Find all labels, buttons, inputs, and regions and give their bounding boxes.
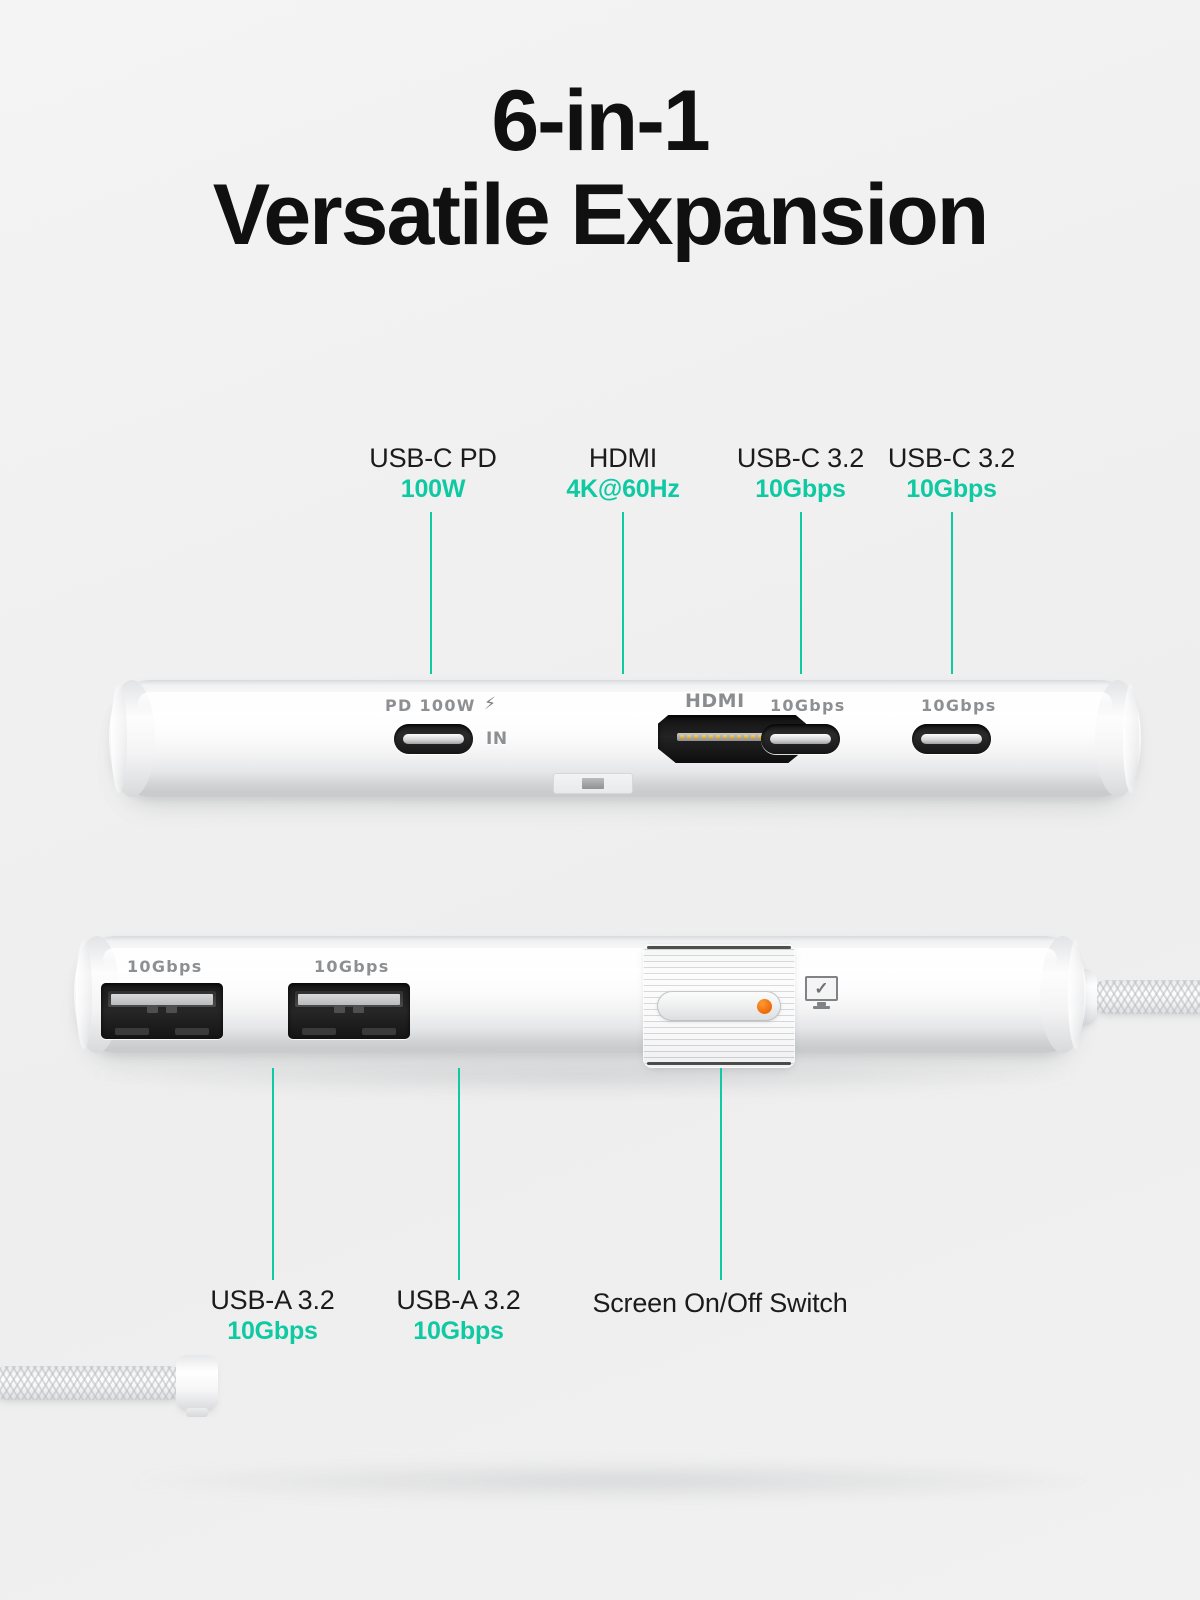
callout-label-spec: 10Gbps [165,1317,380,1346]
leader-line-usb-c-b [951,512,953,674]
usb-a-port-b[interactable] [288,983,410,1039]
usb-a-port-a[interactable] [101,983,223,1039]
engraving-10gbps: 10Gbps [314,957,390,976]
bolt-icon: ⚡ [484,694,497,714]
engraving-10gbps: 10Gbps [127,957,203,976]
usb-a-notch [353,1005,364,1013]
cable-braid [0,1366,186,1400]
leader-line-usb-a-b [458,1068,460,1280]
usb-c-port-b[interactable] [912,724,991,754]
device-shadow [130,1461,1120,1501]
device-end-cap-right [1095,680,1141,797]
usb-a-pad [115,1028,149,1035]
screen-on-off-switch[interactable] [643,943,795,1068]
cable-collar [176,1355,218,1411]
usb-a-tongue [111,994,213,1005]
hdmi-logo-icon: HDMI [685,690,745,712]
callout-usb-c-3-2-b: USB-C 3.2 10Gbps [844,443,1059,504]
leader-line-hdmi [622,512,624,674]
switch-rail-bottom [647,1062,791,1065]
leader-line-usb-a-a [272,1068,274,1280]
engraving-10gbps: 10Gbps [770,696,846,715]
device-body: 10Gbps 10Gbps [75,936,1085,1053]
switch-rail-top [647,946,791,949]
device-end-cap-right [1040,936,1086,1053]
device-end-cap-left [109,680,155,797]
device-shadow [90,1056,1080,1096]
body-highlight [103,948,1057,970]
hdmi-surface-reflection [553,773,633,794]
usb-c-port-pd[interactable] [394,724,473,754]
cable-tab [186,1408,208,1417]
engraving-pd-100w: PD 100W [385,696,476,715]
usb-a-tongue [298,994,400,1005]
callout-label-name: USB-A 3.2 [351,1285,566,1316]
check-icon: ✓ [814,980,828,997]
title-line-2: Versatile Expansion [0,172,1200,260]
monitor-screen: ✓ [805,976,838,1001]
switch-indicator-dot [757,999,772,1014]
usb-a-notch [166,1005,177,1013]
title-line-1: 6-in-1 [0,78,1200,166]
callout-usb-a-3-2-a: USB-A 3.2 10Gbps [165,1285,380,1346]
callout-label-spec: 10Gbps [844,475,1059,504]
hub-device-bottom: 10Gbps 10Gbps [0,910,1200,1110]
switch-slider-handle[interactable] [657,991,781,1021]
hub-device-top: PD 100W ⚡ IN HDMI 10Gbps [0,655,1200,845]
cable-braid [1090,980,1200,1014]
usb-a-pad [362,1028,396,1035]
usb-a-notch [334,1005,345,1013]
leader-line-switch [720,1068,722,1280]
leader-line-usb-c-pd [430,512,432,674]
callout-screen-switch: Screen On/Off Switch [545,1288,895,1319]
usb-a-pad [302,1028,336,1035]
usb-c-port-a[interactable] [761,724,840,754]
usb-c-tongue [921,734,981,744]
usb-c-tongue [770,734,830,744]
callout-usb-a-3-2-b: USB-A 3.2 10Gbps [351,1285,566,1346]
engraving-10gbps: 10Gbps [921,696,997,715]
callout-label-name: Screen On/Off Switch [545,1288,895,1319]
engraving-in: IN [486,729,508,749]
page-title: 6-in-1 Versatile Expansion [0,78,1200,259]
usb-a-notch [147,1005,158,1013]
callout-label-name: USB-A 3.2 [165,1285,380,1316]
leader-line-usb-c-a [800,512,802,674]
monitor-check-icon: ✓ [805,976,838,1009]
callout-label-spec: 10Gbps [351,1317,566,1346]
monitor-base [813,1006,830,1009]
usb-c-tongue [403,734,463,744]
usb-a-pad [175,1028,209,1035]
callout-label-name: USB-C 3.2 [844,443,1059,474]
